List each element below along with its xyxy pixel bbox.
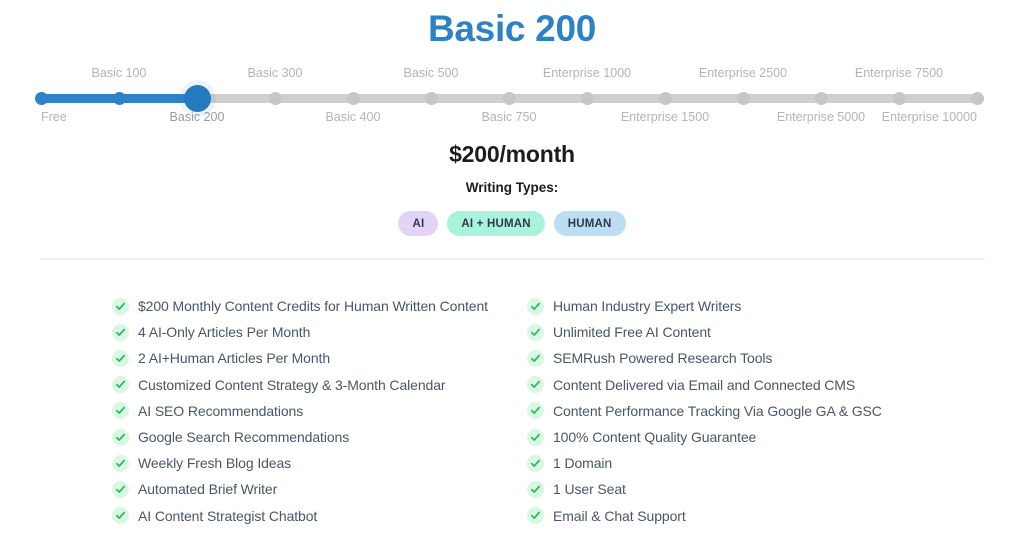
- slider-label-4[interactable]: Basic 400: [326, 110, 381, 124]
- check-icon: [112, 324, 129, 341]
- check-icon: [527, 298, 544, 315]
- page-title: Basic 200: [0, 8, 1024, 50]
- feature-item: Human Industry Expert Writers: [527, 293, 947, 319]
- features-left-column: $200 Monthly Content Credits for Human W…: [112, 293, 527, 529]
- writing-type-pill-0[interactable]: AI: [398, 211, 438, 236]
- check-icon: [527, 350, 544, 367]
- feature-label: Human Industry Expert Writers: [553, 298, 741, 314]
- slider-stop-10[interactable]: [815, 92, 828, 105]
- feature-label: 1 User Seat: [553, 481, 626, 497]
- feature-label: AI SEO Recommendations: [138, 403, 303, 419]
- feature-label: 1 Domain: [553, 455, 612, 471]
- features-section: $200 Monthly Content Credits for Human W…: [0, 293, 1024, 529]
- feature-item: Content Delivered via Email and Connecte…: [527, 372, 947, 398]
- feature-label: Automated Brief Writer: [138, 481, 277, 497]
- slider-label-6[interactable]: Basic 750: [482, 110, 537, 124]
- slider-label-11[interactable]: Enterprise 7500: [855, 66, 943, 80]
- feature-label: Weekly Fresh Blog Ideas: [138, 455, 291, 471]
- slider-label-3[interactable]: Basic 300: [248, 66, 303, 80]
- check-icon: [112, 350, 129, 367]
- slider-stop-0[interactable]: [35, 92, 48, 105]
- features-right-column: Human Industry Expert WritersUnlimited F…: [527, 293, 947, 529]
- pricing-plan-page: Basic 200 FreeBasic 100Basic 200Basic 30…: [0, 0, 1024, 544]
- slider-stop-1[interactable]: [113, 92, 126, 105]
- check-icon: [112, 481, 129, 498]
- feature-item: Email & Chat Support: [527, 503, 947, 529]
- plan-slider[interactable]: FreeBasic 100Basic 200Basic 300Basic 400…: [41, 66, 977, 128]
- feature-label: AI Content Strategist Chatbot: [138, 508, 317, 524]
- feature-item: 2 AI+Human Articles Per Month: [112, 345, 527, 371]
- check-icon: [112, 402, 129, 419]
- check-icon: [527, 376, 544, 393]
- feature-item: Customized Content Strategy & 3-Month Ca…: [112, 372, 527, 398]
- check-icon: [112, 376, 129, 393]
- check-icon: [527, 324, 544, 341]
- feature-item: AI SEO Recommendations: [112, 398, 527, 424]
- writing-type-pill-2[interactable]: HUMAN: [554, 211, 626, 236]
- section-divider: [40, 258, 985, 260]
- feature-item: SEMRush Powered Research Tools: [527, 345, 947, 371]
- feature-item: Unlimited Free AI Content: [527, 319, 947, 345]
- slider-stop-5[interactable]: [425, 92, 438, 105]
- feature-item: Google Search Recommendations: [112, 424, 527, 450]
- writing-types-pill-group: AIAI + HUMANHUMAN: [0, 211, 1024, 236]
- check-icon: [112, 298, 129, 315]
- slider-label-8[interactable]: Enterprise 1500: [621, 110, 709, 124]
- feature-label: Content Delivered via Email and Connecte…: [553, 377, 855, 393]
- slider-label-10[interactable]: Enterprise 5000: [777, 110, 865, 124]
- check-icon: [527, 507, 544, 524]
- slider-stop-12[interactable]: [971, 92, 984, 105]
- slider-stop-7[interactable]: [581, 92, 594, 105]
- writing-types-label: Writing Types:: [0, 180, 1024, 195]
- feature-label: 4 AI-Only Articles Per Month: [138, 324, 310, 340]
- slider-label-12[interactable]: Enterprise 10000: [882, 110, 977, 124]
- feature-item: 100% Content Quality Guarantee: [527, 424, 947, 450]
- feature-label: $200 Monthly Content Credits for Human W…: [138, 298, 488, 314]
- check-icon: [527, 402, 544, 419]
- slider-stop-2[interactable]: [184, 85, 211, 112]
- feature-item: Content Performance Tracking Via Google …: [527, 398, 947, 424]
- feature-item: 1 Domain: [527, 450, 947, 476]
- check-icon: [527, 429, 544, 446]
- slider-label-9[interactable]: Enterprise 2500: [699, 66, 787, 80]
- feature-label: Google Search Recommendations: [138, 429, 349, 445]
- slider-stop-6[interactable]: [503, 92, 516, 105]
- slider-stop-9[interactable]: [737, 92, 750, 105]
- feature-item: Automated Brief Writer: [112, 476, 527, 502]
- feature-item: 4 AI-Only Articles Per Month: [112, 319, 527, 345]
- check-icon: [112, 429, 129, 446]
- slider-label-1[interactable]: Basic 100: [92, 66, 147, 80]
- feature-item: Weekly Fresh Blog Ideas: [112, 450, 527, 476]
- writing-type-pill-1[interactable]: AI + HUMAN: [447, 211, 544, 236]
- check-icon: [112, 455, 129, 472]
- feature-label: Content Performance Tracking Via Google …: [553, 403, 882, 419]
- slider-label-7[interactable]: Enterprise 1000: [543, 66, 631, 80]
- slider-stop-3[interactable]: [269, 92, 282, 105]
- check-icon: [112, 507, 129, 524]
- slider-label-2[interactable]: Basic 200: [170, 110, 225, 124]
- slider-stop-11[interactable]: [893, 92, 906, 105]
- feature-label: SEMRush Powered Research Tools: [553, 350, 772, 366]
- feature-item: $200 Monthly Content Credits for Human W…: [112, 293, 527, 319]
- check-icon: [527, 455, 544, 472]
- slider-label-5[interactable]: Basic 500: [404, 66, 459, 80]
- slider-label-0[interactable]: Free: [41, 110, 67, 124]
- feature-label: 100% Content Quality Guarantee: [553, 429, 756, 445]
- slider-stop-4[interactable]: [347, 92, 360, 105]
- feature-label: 2 AI+Human Articles Per Month: [138, 350, 330, 366]
- feature-label: Unlimited Free AI Content: [553, 324, 711, 340]
- plan-price: $200/month: [0, 141, 1024, 168]
- check-icon: [527, 481, 544, 498]
- feature-label: Customized Content Strategy & 3-Month Ca…: [138, 377, 445, 393]
- feature-label: Email & Chat Support: [553, 508, 686, 524]
- slider-stop-8[interactable]: [659, 92, 672, 105]
- feature-item: 1 User Seat: [527, 476, 947, 502]
- feature-item: AI Content Strategist Chatbot: [112, 503, 527, 529]
